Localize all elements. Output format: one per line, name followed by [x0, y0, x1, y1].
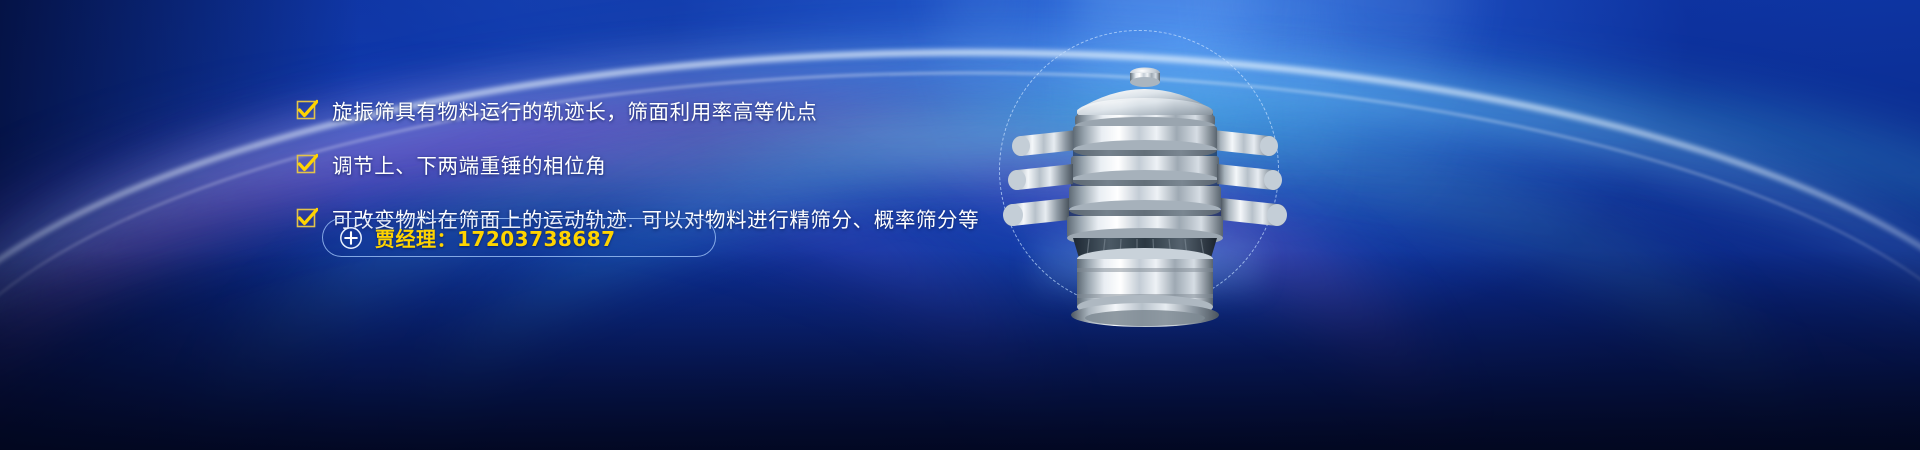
- list-item: 调节上、下两端重锤的相位角: [296, 142, 1056, 186]
- feature-text: 调节上、下两端重锤的相位角: [332, 149, 606, 179]
- checkbox-checked-icon: [296, 99, 318, 121]
- feature-text: 旋振筛具有物料运行的轨迹长，筛面利用率高等优点: [332, 95, 817, 125]
- product-figure: [985, 18, 1305, 338]
- list-item: 旋振筛具有物料运行的轨迹长，筛面利用率高等优点: [296, 88, 1056, 132]
- plus-circle-icon: [339, 226, 363, 250]
- checkbox-checked-icon: [296, 207, 318, 229]
- contact-button[interactable]: 贾经理：17203738687: [322, 218, 716, 257]
- bottom-vignette: [0, 250, 1920, 450]
- product-banner: 旋振筛具有物料运行的轨迹长，筛面利用率高等优点 调节上、下两端重锤的相位角 可改…: [0, 0, 1920, 450]
- checkbox-checked-icon: [296, 153, 318, 175]
- rotary-vibrating-screen-image: [985, 18, 1305, 338]
- contact-label: 贾经理：17203738687: [375, 223, 616, 252]
